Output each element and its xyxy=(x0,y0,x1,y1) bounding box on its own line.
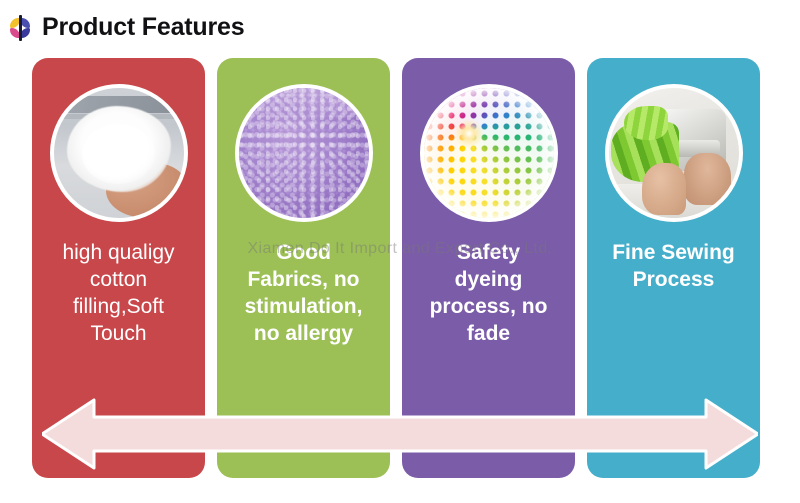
feature-card-label: Safety dyeing process, no fade xyxy=(409,240,569,348)
feature-card-label: Fine Sewing Process xyxy=(594,240,754,294)
feature-card-safety-dyeing[interactable]: Safety dyeing process, no fade xyxy=(402,58,575,478)
cotton-filling-photo xyxy=(54,88,184,218)
purple-fleece-fabric-photo xyxy=(239,88,369,218)
page-title: Product Features xyxy=(42,15,244,40)
sewing-machine-photo xyxy=(609,88,739,218)
photo-ring xyxy=(605,84,743,222)
photo-ring xyxy=(235,84,373,222)
feature-card-good-fabrics[interactable]: Good Fabrics, no stimulation, no allergy xyxy=(217,58,390,478)
product-features-banner: Product Features high qualigy cotton fil… xyxy=(0,0,800,503)
header: Product Features xyxy=(0,0,800,55)
pinwheel-icon xyxy=(8,15,34,41)
photo-ring xyxy=(420,84,558,222)
feature-card-fine-sewing[interactable]: Fine Sewing Process xyxy=(587,58,760,478)
photo-ring xyxy=(50,84,188,222)
feature-card-label: Good Fabrics, no stimulation, no allergy xyxy=(224,240,384,348)
feature-card-list: high qualigy cotton filling,Soft Touch G… xyxy=(32,58,766,478)
rainbow-dye-spiral-photo xyxy=(424,88,554,218)
feature-card-cotton-filling[interactable]: high qualigy cotton filling,Soft Touch xyxy=(32,58,205,478)
feature-card-label: high qualigy cotton filling,Soft Touch xyxy=(39,240,199,348)
